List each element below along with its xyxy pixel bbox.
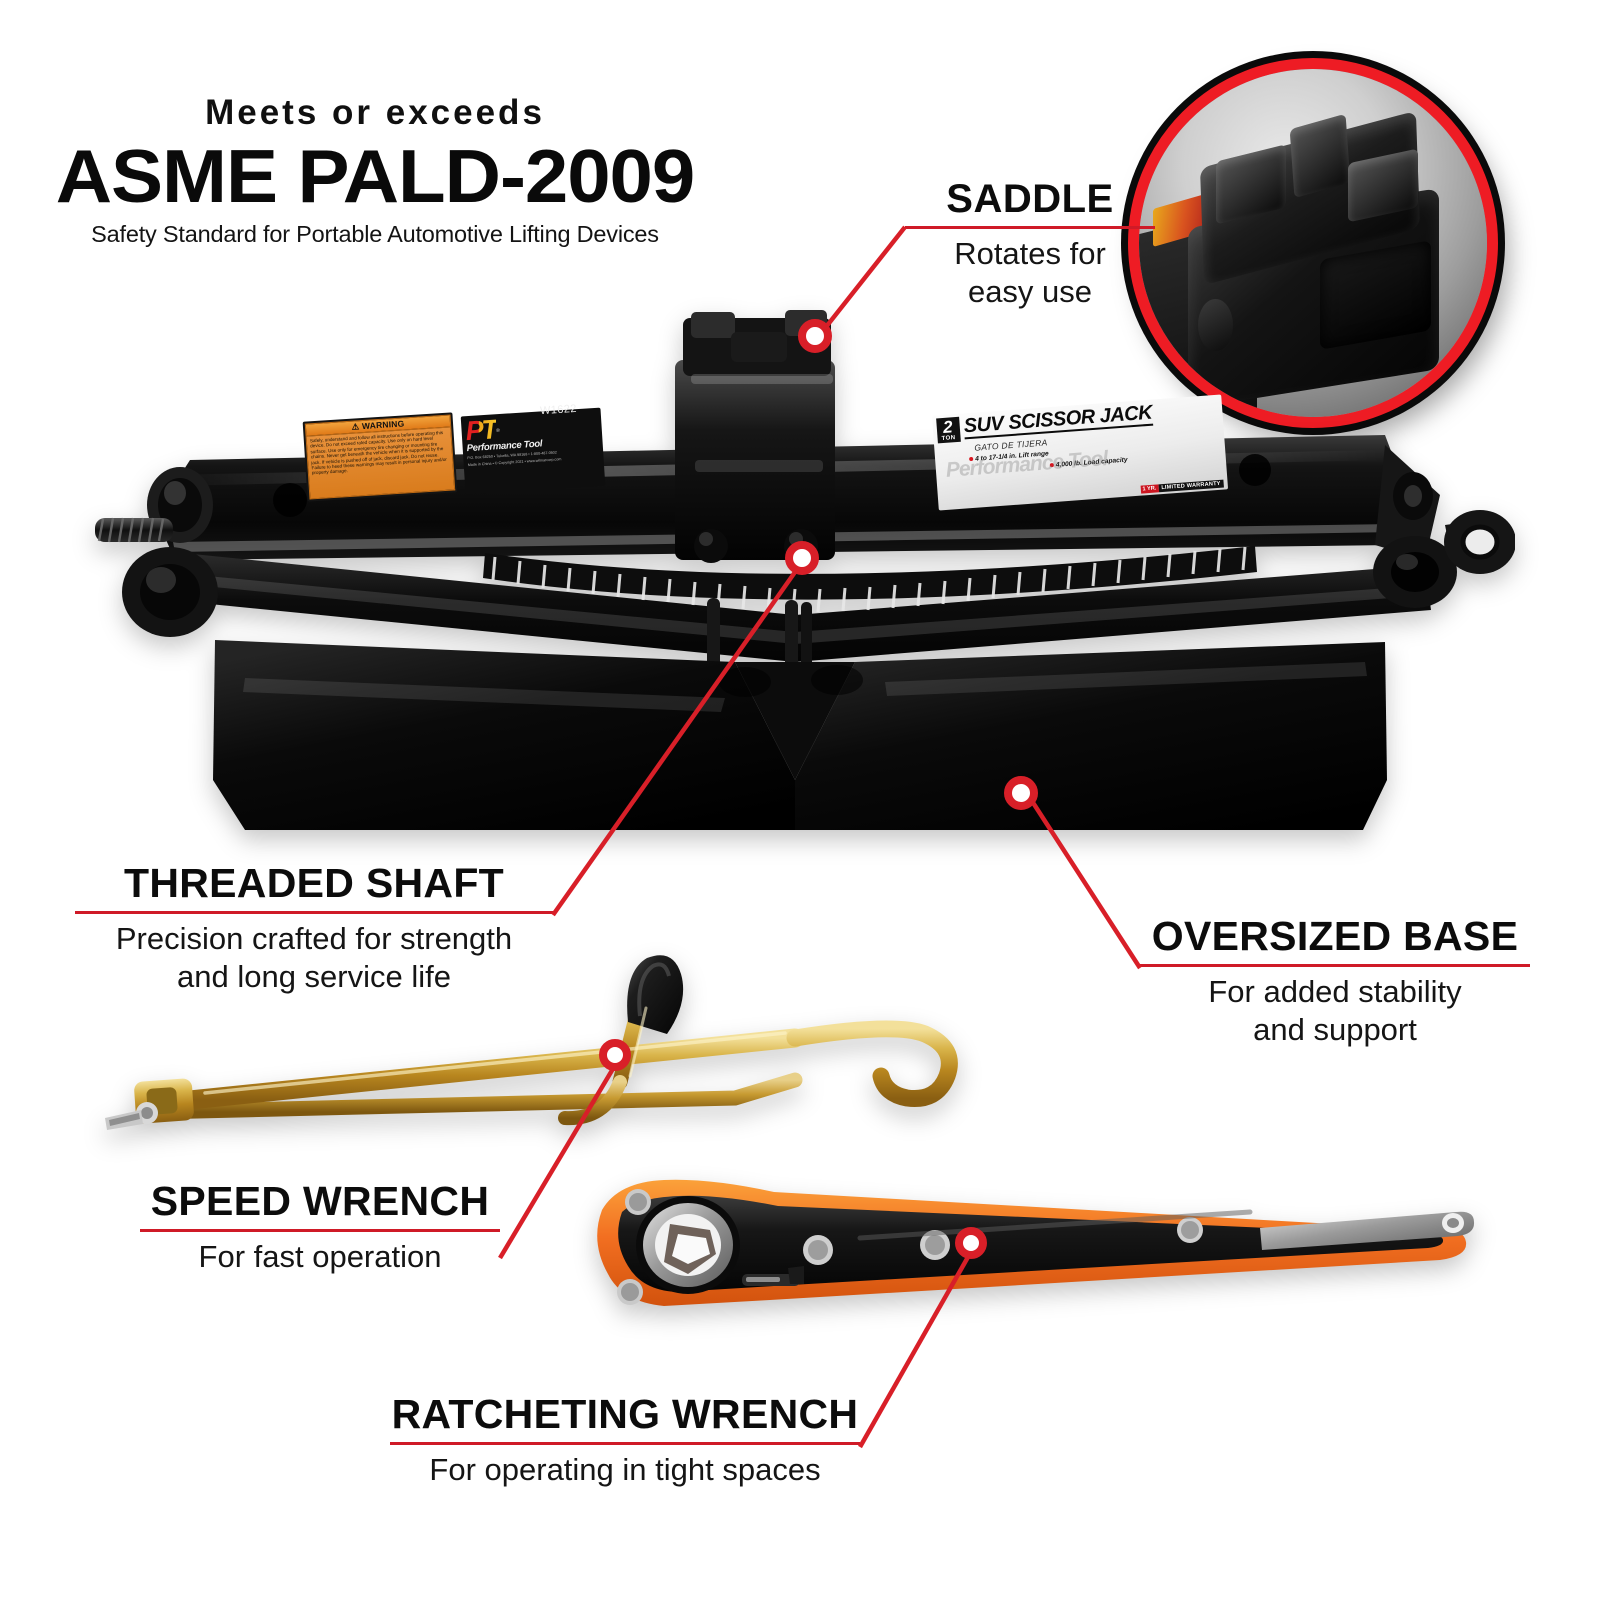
callout-speed-wrench-title: SPEED WRENCH [140,1180,500,1223]
ratcheting-wrench-illustration [560,1150,1490,1340]
standards-header: Meets or exceeds ASME PALD-2009 Safety S… [55,95,695,248]
jack-saddle [675,310,835,563]
header-standard-name: ASME PALD-2009 [42,138,708,215]
callout-saddle-title: SADDLE [905,178,1155,220]
callout-oversized-base-title: OVERSIZED BASE [1140,915,1530,958]
callout-threaded-shaft: THREADED SHAFT Precision crafted for str… [75,862,553,996]
callout-threaded-shaft-desc-1: Precision crafted for strength [75,920,553,958]
callout-speed-wrench-rule [140,1229,500,1232]
callout-speed-wrench-desc-1: For fast operation [140,1238,500,1276]
warranty-years: 1 YR. [1140,484,1158,493]
tonnage-badge: 2 TON [936,417,961,444]
callout-threaded-shaft-rule [75,911,553,914]
callout-oversized-base-desc-1: For added stability [1140,973,1530,1011]
brand-registered-icon: ® [496,428,500,434]
callout-saddle-desc-2: easy use [905,273,1155,311]
jack-oversized-base [213,640,1387,830]
jack-screw-tip-left [95,518,173,542]
spec-watermark: Performance Tool [945,447,1108,483]
callout-threaded-shaft-title: THREADED SHAFT [75,862,553,905]
callout-saddle-desc-1: Rotates for [905,235,1155,273]
speed-wrench-socket-end [105,1078,194,1130]
callout-saddle: SADDLE Rotates for easy use [905,178,1155,311]
callout-threaded-shaft-desc-2: and long service life [75,958,553,996]
infographic-canvas: Meets or exceeds ASME PALD-2009 Safety S… [0,0,1600,1600]
scissor-jack-illustration [95,310,1515,830]
callout-oversized-base: OVERSIZED BASE For added stability and s… [1140,915,1530,1049]
header-subtitle: Safety Standard for Portable Automotive … [55,221,695,248]
brand-label: PT® Performance Tool P.O. Box 68250 • Tu… [461,408,606,495]
callout-saddle-rule [905,226,1155,229]
header-meets-line: Meets or exceeds [55,95,695,130]
jack-right-drive-assembly [1373,445,1515,608]
callout-ratcheting-wrench-desc-1: For operating in tight spaces [390,1451,860,1489]
warning-label: ⚠ WARNING Safely, understand and follow … [303,412,458,501]
wrench-ratchet-head [636,1196,740,1294]
callout-ratcheting-wrench-rule [390,1442,860,1445]
warning-label-body: Safely, understand and follow all instru… [306,427,456,499]
model-number: W1622 [540,403,578,417]
callout-oversized-base-desc-2: and support [1140,1011,1530,1049]
tonnage-unit: TON [941,435,955,442]
callout-ratcheting-wrench: RATCHETING WRENCH For operating in tight… [390,1393,860,1489]
jack-lower-pivot-left [122,547,218,637]
speed-wrench-grip [627,955,683,1034]
callout-ratcheting-wrench-title: RATCHETING WRENCH [390,1393,860,1436]
tonnage-number: 2 [940,418,955,436]
callout-oversized-base-rule [1140,964,1530,967]
callout-speed-wrench: SPEED WRENCH For fast operation [140,1180,500,1276]
